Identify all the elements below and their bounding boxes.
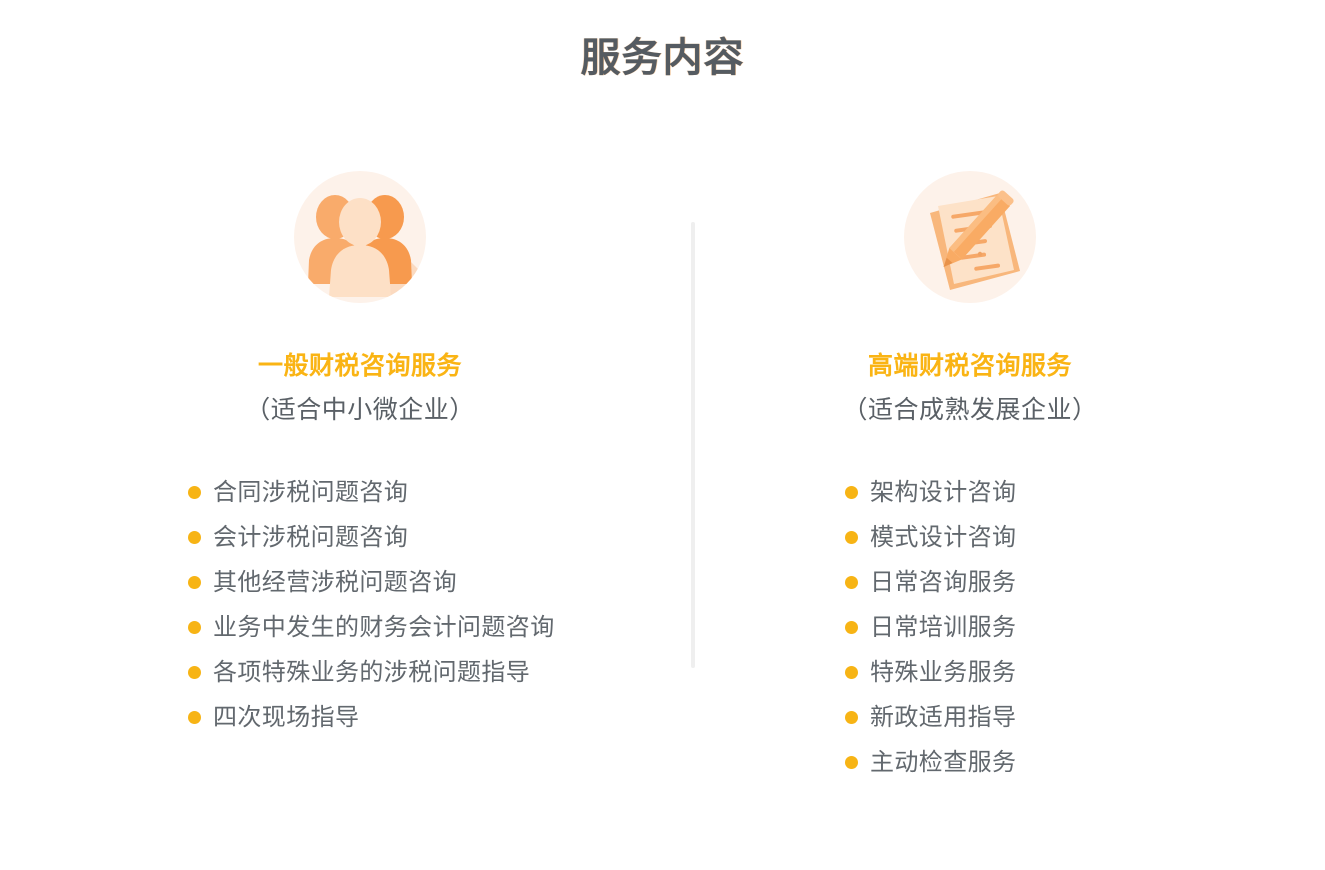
bullet-dot-icon	[188, 531, 201, 544]
list-item-label: 会计涉税问题咨询	[213, 523, 408, 553]
list-item-label: 四次现场指导	[213, 703, 359, 733]
bullet-dot-icon	[188, 711, 201, 724]
general-card-title: 一般财税咨询服务	[50, 348, 670, 384]
list-item-label: 各项特殊业务的涉税问题指导	[213, 658, 530, 688]
document-pencil-icon	[904, 171, 1036, 303]
bullet-dot-icon	[845, 666, 858, 679]
list-item-label: 其他经营涉税问题咨询	[213, 568, 457, 598]
premium-service-list: 架构设计咨询 模式设计咨询 日常咨询服务 日常培训服务 特殊业务服务	[845, 470, 1016, 785]
service-column-premium: 高端财税咨询服务 （适合成熟发展企业） 架构设计咨询 模式设计咨询 日常咨询服务	[660, 0, 1280, 870]
list-item-label: 模式设计咨询	[870, 523, 1016, 553]
bullet-dot-icon	[845, 756, 858, 769]
list-item-label: 特殊业务服务	[870, 658, 1016, 688]
list-item: 会计涉税问题咨询	[188, 515, 555, 560]
general-card-subtitle: （适合中小微企业）	[50, 392, 670, 428]
list-item-label: 业务中发生的财务会计问题咨询	[213, 613, 555, 643]
general-icon-wrap	[50, 171, 670, 303]
list-item: 主动检查服务	[845, 740, 1016, 785]
bullet-dot-icon	[188, 486, 201, 499]
list-item-label: 主动检查服务	[870, 748, 1016, 778]
service-columns: 一般财税咨询服务 （适合中小微企业） 合同涉税问题咨询 会计涉税问题咨询 其他经…	[0, 0, 1325, 870]
list-item: 新政适用指导	[845, 695, 1016, 740]
bullet-dot-icon	[845, 576, 858, 589]
list-item: 日常培训服务	[845, 605, 1016, 650]
service-content-page: 服务内容	[0, 0, 1325, 870]
list-item: 架构设计咨询	[845, 470, 1016, 515]
list-item: 模式设计咨询	[845, 515, 1016, 560]
list-item: 日常咨询服务	[845, 560, 1016, 605]
bullet-dot-icon	[188, 621, 201, 634]
list-item: 特殊业务服务	[845, 650, 1016, 695]
list-item-label: 日常培训服务	[870, 613, 1016, 643]
list-item: 业务中发生的财务会计问题咨询	[188, 605, 555, 650]
list-item-label: 架构设计咨询	[870, 478, 1016, 508]
bullet-dot-icon	[845, 531, 858, 544]
list-item-label: 日常咨询服务	[870, 568, 1016, 598]
list-item-label: 合同涉税问题咨询	[213, 478, 408, 508]
bullet-dot-icon	[845, 621, 858, 634]
premium-card-title: 高端财税咨询服务	[660, 348, 1280, 384]
bullet-dot-icon	[845, 486, 858, 499]
premium-card-subtitle: （适合成熟发展企业）	[660, 392, 1280, 428]
general-service-list: 合同涉税问题咨询 会计涉税问题咨询 其他经营涉税问题咨询 业务中发生的财务会计问…	[188, 470, 555, 740]
list-item: 合同涉税问题咨询	[188, 470, 555, 515]
three-people-icon	[294, 171, 426, 303]
bullet-dot-icon	[188, 666, 201, 679]
list-item: 四次现场指导	[188, 695, 555, 740]
service-column-general: 一般财税咨询服务 （适合中小微企业） 合同涉税问题咨询 会计涉税问题咨询 其他经…	[50, 0, 670, 870]
bullet-dot-icon	[188, 576, 201, 589]
list-item: 其他经营涉税问题咨询	[188, 560, 555, 605]
list-item-label: 新政适用指导	[870, 703, 1016, 733]
list-item: 各项特殊业务的涉税问题指导	[188, 650, 555, 695]
premium-icon-wrap	[660, 171, 1280, 303]
bullet-dot-icon	[845, 711, 858, 724]
